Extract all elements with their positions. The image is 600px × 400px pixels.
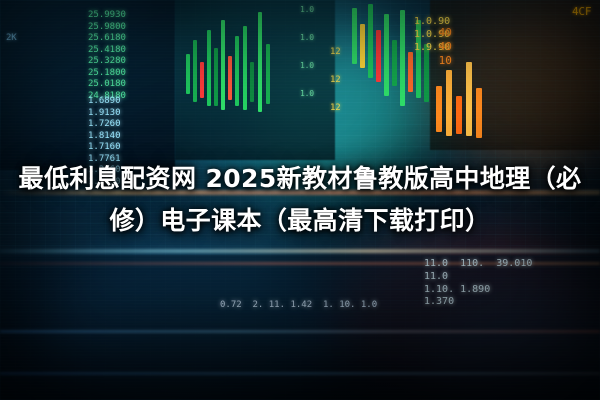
candle	[376, 30, 381, 82]
candle	[266, 44, 270, 104]
left-code-label: 2K	[6, 34, 16, 43]
right-code-label: 4CF	[572, 6, 591, 17]
mini-tick: 12	[330, 76, 340, 85]
candle	[258, 12, 262, 112]
quote-column-c-side: 40 40 10	[432, 12, 452, 68]
light-streak	[0, 249, 600, 253]
candle	[235, 36, 239, 106]
mini-tick: 1.0	[300, 90, 314, 98]
mini-tick: 12	[330, 48, 340, 57]
candle	[207, 30, 211, 106]
candle	[214, 48, 218, 106]
candle	[408, 52, 413, 92]
candle	[200, 62, 204, 98]
candle	[186, 54, 190, 94]
mini-tick: 1.0	[300, 34, 314, 42]
light-streak	[0, 330, 600, 333]
candle	[228, 56, 232, 100]
candle	[221, 20, 225, 110]
candle	[476, 88, 482, 138]
mini-tick: 1.0	[300, 6, 314, 14]
candle	[456, 96, 462, 134]
candle	[360, 24, 365, 68]
candle	[392, 40, 397, 86]
ticker-row: 0.72 2. 11. 1.42 1. 10. 1.0	[220, 300, 377, 312]
mini-tick: 1.0	[300, 62, 314, 70]
candle	[446, 70, 452, 136]
mini-tick: 12	[330, 104, 340, 113]
candle	[243, 26, 247, 110]
candle	[352, 8, 357, 64]
candle	[193, 40, 197, 102]
headline-overlay-text: 最低利息配资网 2025新教材鲁教版高中地理（必修）电子课本（最高清下载打印）	[0, 158, 600, 242]
panel-center-chart	[175, 0, 335, 160]
screenshot-root: 25.9930 25.9800 25.6180 25.4180 25.3280 …	[0, 0, 600, 400]
candle	[466, 62, 472, 136]
light-streak	[0, 372, 600, 375]
quote-column-d: 11.0 110. 39.010 11.0 1.10. 1.890 1.370	[424, 258, 532, 309]
candle	[250, 62, 254, 102]
candle	[400, 10, 405, 106]
quote-column-a: 25.9930 25.9800 25.6180 25.4180 25.3280 …	[88, 10, 126, 102]
candle	[368, 4, 373, 78]
candle	[436, 86, 442, 132]
candle	[384, 14, 389, 96]
